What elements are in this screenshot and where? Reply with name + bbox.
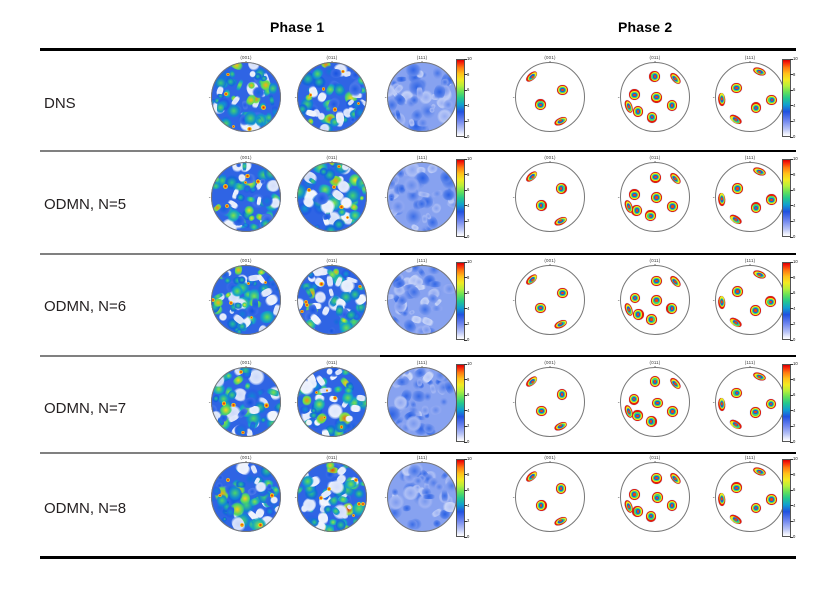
pole-figure-tick-w: ⌄	[384, 298, 387, 302]
colorbar-tick: 0	[793, 135, 795, 139]
colorbar-tick: 6	[793, 488, 795, 492]
colorbar-tick: 10	[467, 362, 472, 366]
pole-figure-disc	[297, 62, 367, 132]
pole-figure-p2-r0-c2: (111)⌄⌄	[712, 55, 788, 139]
pole-figure-disc	[297, 162, 367, 232]
pole-figure-tick-w: ⌄	[712, 195, 715, 199]
pole-figure-disc	[620, 62, 690, 132]
colorbar-tick: 4	[793, 104, 795, 108]
colorbar-tick: 4	[793, 307, 795, 311]
pole-figure-disc	[515, 462, 585, 532]
pole-figure-p1-r1-c1: (011)⌄⌄	[294, 155, 370, 239]
pole-figure-p1-r4-c0: (001)⌄⌄	[208, 455, 284, 539]
pole-figure-tick-n: ⌄	[548, 364, 551, 368]
phase1-header: Phase 1	[270, 19, 324, 35]
pole-figure-p1-r1-c2: (111)⌄⌄	[384, 155, 460, 239]
pole-figure-disc	[211, 462, 281, 532]
pole-figure-p2-r0-c0: (001)⌄⌄	[512, 55, 588, 139]
colorbar-tick: 10	[793, 362, 798, 366]
pole-figure-tick-n: ⌄	[748, 159, 751, 163]
pole-figure-disc	[715, 462, 785, 532]
pole-figure-tick-w: ⌄	[617, 95, 620, 99]
pole-figure-p1-r1-c0: (001)⌄⌄	[208, 155, 284, 239]
pole-figure-p1-r4-c2: (111)⌄⌄	[384, 455, 460, 539]
pole-figure-tick-w: ⌄	[712, 298, 715, 302]
pole-figure-tick-w: ⌄	[512, 495, 515, 499]
pole-figure-disc	[515, 265, 585, 335]
pole-figure-tick-n: ⌄	[548, 59, 551, 63]
row-divider	[40, 355, 796, 357]
colorbar-tick: 0	[467, 535, 469, 539]
colorbar-tick: 8	[793, 173, 795, 177]
colorbar-phase2-row1-ticks: 0246810	[791, 159, 805, 237]
pole-figure-disc	[387, 62, 457, 132]
pole-figure-disc	[387, 265, 457, 335]
pole-figure-p1-r0-c2: (111)⌄⌄	[384, 55, 460, 139]
colorbar-tick: 0	[793, 235, 795, 239]
pole-figure-p1-r3-c2: (111)⌄⌄	[384, 360, 460, 444]
pole-figure-tick-n: ⌄	[653, 364, 656, 368]
colorbar-phase1-row1-ticks: 0246810	[465, 159, 479, 237]
colorbar-phase2-row4	[782, 459, 791, 537]
colorbar-tick: 8	[793, 473, 795, 477]
pole-figure-tick-n: ⌄	[330, 59, 333, 63]
colorbar-tick: 10	[467, 57, 472, 61]
colorbar-phase2-row2	[782, 262, 791, 340]
pole-figure-tick-w: ⌄	[294, 195, 297, 199]
colorbar-tick: 8	[793, 73, 795, 77]
pole-figure-disc	[211, 265, 281, 335]
pole-figure-disc	[387, 162, 457, 232]
pole-figure-p2-r3-c0: (001)⌄⌄	[512, 360, 588, 444]
pole-figure-tick-w: ⌄	[208, 298, 211, 302]
colorbar-tick: 10	[467, 260, 472, 264]
colorbar-tick: 2	[793, 119, 795, 123]
colorbar-tick: 4	[793, 409, 795, 413]
pole-figure-tick-n: ⌄	[244, 364, 247, 368]
pole-figure-disc	[715, 265, 785, 335]
pole-figure-disc	[715, 162, 785, 232]
row-label-3: ODMN, N=7	[44, 400, 126, 417]
colorbar-phase1-row4	[456, 459, 465, 537]
pole-figure-tick-n: ⌄	[748, 262, 751, 266]
pole-figure-tick-n: ⌄	[748, 364, 751, 368]
pole-figure-tick-w: ⌄	[208, 495, 211, 499]
pole-figure-tick-n: ⌄	[330, 459, 333, 463]
pole-figure-tick-n: ⌄	[548, 262, 551, 266]
pole-figure-p1-r2-c1: (011)⌄⌄	[294, 258, 370, 342]
row-divider	[40, 452, 796, 454]
colorbar-tick: 10	[793, 260, 798, 264]
colorbar-tick: 6	[467, 88, 469, 92]
colorbar-phase1-row4-ticks: 0246810	[465, 459, 479, 537]
row-label-4: ODMN, N=8	[44, 500, 126, 517]
row-divider	[40, 253, 796, 255]
pole-figure-tick-w: ⌄	[294, 400, 297, 404]
pole-figure-p1-r2-c0: (001)⌄⌄	[208, 258, 284, 342]
pole-figure-tick-w: ⌄	[208, 195, 211, 199]
pole-figure-tick-n: ⌄	[420, 364, 423, 368]
colorbar-tick: 6	[793, 188, 795, 192]
pole-figure-tick-w: ⌄	[208, 400, 211, 404]
colorbar-tick: 6	[467, 393, 469, 397]
colorbar-tick: 2	[467, 322, 469, 326]
row-divider	[40, 150, 796, 152]
pole-figure-p2-r2-c0: (001)⌄⌄	[512, 258, 588, 342]
colorbar-phase2-row0	[782, 59, 791, 137]
colorbar-tick: 6	[793, 291, 795, 295]
colorbar-tick: 8	[467, 173, 469, 177]
colorbar-phase1-row2	[456, 262, 465, 340]
colorbar-tick: 6	[793, 393, 795, 397]
pole-figure-p1-r3-c0: (001)⌄⌄	[208, 360, 284, 444]
pole-figure-disc	[297, 462, 367, 532]
pole-figure-tick-w: ⌄	[712, 495, 715, 499]
phase2-header: Phase 2	[618, 19, 672, 35]
pole-figure-tick-w: ⌄	[512, 298, 515, 302]
pole-figure-tick-w: ⌄	[294, 298, 297, 302]
pole-figure-p2-r1-c0: (001)⌄⌄	[512, 155, 588, 239]
colorbar-tick: 2	[793, 219, 795, 223]
colorbar-tick: 8	[467, 276, 469, 280]
pole-figure-tick-w: ⌄	[617, 195, 620, 199]
colorbar-tick: 2	[467, 519, 469, 523]
colorbar-tick: 10	[467, 157, 472, 161]
pole-figure-tick-w: ⌄	[294, 95, 297, 99]
pole-figure-tick-w: ⌄	[617, 495, 620, 499]
table-top-border	[40, 48, 796, 51]
pole-figure-p2-r4-c1: (011)⌄⌄	[617, 455, 693, 539]
colorbar-tick: 0	[467, 338, 469, 342]
pole-figure-p1-r0-c1: (011)⌄⌄	[294, 55, 370, 139]
pole-figure-disc	[515, 367, 585, 437]
colorbar-tick: 0	[793, 440, 795, 444]
pole-figure-tick-n: ⌄	[244, 59, 247, 63]
pole-figure-disc	[620, 367, 690, 437]
colorbar-phase1-row3-ticks: 0246810	[465, 364, 479, 442]
pole-figure-tick-n: ⌄	[748, 459, 751, 463]
pole-figure-tick-w: ⌄	[617, 400, 620, 404]
colorbar-phase1-row0-ticks: 0246810	[465, 59, 479, 137]
pole-figure-disc	[715, 62, 785, 132]
row-label-0: DNS	[44, 95, 76, 112]
pole-figure-tick-w: ⌄	[208, 95, 211, 99]
pole-figure-disc	[715, 367, 785, 437]
pole-figure-p2-r3-c1: (011)⌄⌄	[617, 360, 693, 444]
pole-figure-tick-w: ⌄	[384, 195, 387, 199]
colorbar-tick: 8	[793, 378, 795, 382]
colorbar-phase1-row3	[456, 364, 465, 442]
pole-figure-tick-w: ⌄	[512, 400, 515, 404]
pole-figure-tick-n: ⌄	[244, 459, 247, 463]
pole-figure-tick-n: ⌄	[548, 159, 551, 163]
colorbar-tick: 10	[793, 157, 798, 161]
pole-figure-disc	[387, 367, 457, 437]
colorbar-phase2-row3-ticks: 0246810	[791, 364, 805, 442]
colorbar-tick: 4	[467, 104, 469, 108]
colorbar-tick: 8	[467, 73, 469, 77]
colorbar-phase1-row0	[456, 59, 465, 137]
colorbar-tick: 4	[467, 307, 469, 311]
colorbar-phase2-row0-ticks: 0246810	[791, 59, 805, 137]
colorbar-tick: 2	[793, 322, 795, 326]
colorbar-tick: 6	[467, 188, 469, 192]
pole-figure-tick-w: ⌄	[294, 495, 297, 499]
pole-figure-tick-w: ⌄	[384, 495, 387, 499]
pole-figure-tick-n: ⌄	[244, 262, 247, 266]
pole-figure-tick-n: ⌄	[653, 262, 656, 266]
pole-figure-tick-w: ⌄	[512, 195, 515, 199]
pole-figure-tick-n: ⌄	[653, 159, 656, 163]
colorbar-phase1-row2-ticks: 0246810	[465, 262, 479, 340]
colorbar-phase2-row1	[782, 159, 791, 237]
colorbar-tick: 2	[467, 219, 469, 223]
colorbar-tick: 2	[793, 519, 795, 523]
pole-figure-disc	[515, 62, 585, 132]
colorbar-tick: 0	[467, 235, 469, 239]
pole-figure-disc	[515, 162, 585, 232]
pole-figure-disc	[211, 162, 281, 232]
pole-figure-p1-r2-c2: (111)⌄⌄	[384, 258, 460, 342]
pole-figure-tick-n: ⌄	[330, 364, 333, 368]
colorbar-tick: 8	[467, 378, 469, 382]
colorbar-tick: 0	[793, 338, 795, 342]
pole-figure-tick-n: ⌄	[330, 262, 333, 266]
pole-figure-tick-n: ⌄	[653, 459, 656, 463]
colorbar-tick: 6	[467, 488, 469, 492]
colorbar-tick: 8	[467, 473, 469, 477]
pole-figure-disc	[211, 62, 281, 132]
colorbar-tick: 0	[793, 535, 795, 539]
pole-figure-p2-r1-c2: (111)⌄⌄	[712, 155, 788, 239]
colorbar-tick: 2	[467, 119, 469, 123]
colorbar-tick: 4	[467, 204, 469, 208]
colorbar-phase2-row2-ticks: 0246810	[791, 262, 805, 340]
pole-figure-tick-n: ⌄	[653, 59, 656, 63]
table-bottom-border	[40, 556, 796, 559]
pole-figure-tick-n: ⌄	[244, 159, 247, 163]
pole-figure-disc	[297, 367, 367, 437]
colorbar-tick: 0	[467, 440, 469, 444]
pole-figure-tick-n: ⌄	[420, 262, 423, 266]
pole-figure-disc	[297, 265, 367, 335]
colorbar-tick: 10	[793, 57, 798, 61]
colorbar-tick: 10	[793, 457, 798, 461]
pole-figure-tick-w: ⌄	[712, 400, 715, 404]
pole-figure-p1-r3-c1: (011)⌄⌄	[294, 360, 370, 444]
pole-figure-tick-n: ⌄	[420, 159, 423, 163]
colorbar-phase2-row4-ticks: 0246810	[791, 459, 805, 537]
pole-figure-tick-n: ⌄	[420, 459, 423, 463]
colorbar-tick: 4	[467, 409, 469, 413]
colorbar-tick: 4	[467, 504, 469, 508]
pole-figure-p2-r2-c2: (111)⌄⌄	[712, 258, 788, 342]
colorbar-tick: 0	[467, 135, 469, 139]
pole-figure-disc	[620, 462, 690, 532]
pole-figure-tick-w: ⌄	[384, 95, 387, 99]
pole-figure-p2-r4-c0: (001)⌄⌄	[512, 455, 588, 539]
colorbar-tick: 6	[793, 88, 795, 92]
colorbar-tick: 10	[467, 457, 472, 461]
pole-figure-p2-r3-c2: (111)⌄⌄	[712, 360, 788, 444]
pole-figure-tick-w: ⌄	[712, 95, 715, 99]
pole-figure-tick-n: ⌄	[420, 59, 423, 63]
colorbar-phase2-row3	[782, 364, 791, 442]
pole-figure-disc	[211, 367, 281, 437]
pole-figure-p2-r1-c1: (011)⌄⌄	[617, 155, 693, 239]
colorbar-tick: 4	[793, 504, 795, 508]
pole-figure-tick-n: ⌄	[548, 459, 551, 463]
row-label-2: ODMN, N=6	[44, 298, 126, 315]
colorbar-tick: 2	[793, 424, 795, 428]
colorbar-tick: 8	[793, 276, 795, 280]
pole-figure-tick-w: ⌄	[512, 95, 515, 99]
pole-figure-p1-r0-c0: (001)⌄⌄	[208, 55, 284, 139]
pole-figure-tick-w: ⌄	[617, 298, 620, 302]
row-label-1: ODMN, N=5	[44, 196, 126, 213]
pole-figure-p2-r2-c1: (011)⌄⌄	[617, 258, 693, 342]
pole-figure-disc	[620, 265, 690, 335]
pole-figure-tick-n: ⌄	[748, 59, 751, 63]
pole-figure-tick-n: ⌄	[330, 159, 333, 163]
colorbar-tick: 4	[793, 204, 795, 208]
pole-figure-disc	[387, 462, 457, 532]
colorbar-tick: 2	[467, 424, 469, 428]
pole-figure-p2-r4-c2: (111)⌄⌄	[712, 455, 788, 539]
pole-figure-tick-w: ⌄	[384, 400, 387, 404]
pole-figure-p2-r0-c1: (011)⌄⌄	[617, 55, 693, 139]
pole-figure-grid: Phase 1Phase 2DNSODMN, N=5ODMN, N=6ODMN,…	[0, 0, 831, 600]
pole-figure-p1-r4-c1: (011)⌄⌄	[294, 455, 370, 539]
colorbar-tick: 6	[467, 291, 469, 295]
colorbar-phase1-row1	[456, 159, 465, 237]
pole-figure-disc	[620, 162, 690, 232]
